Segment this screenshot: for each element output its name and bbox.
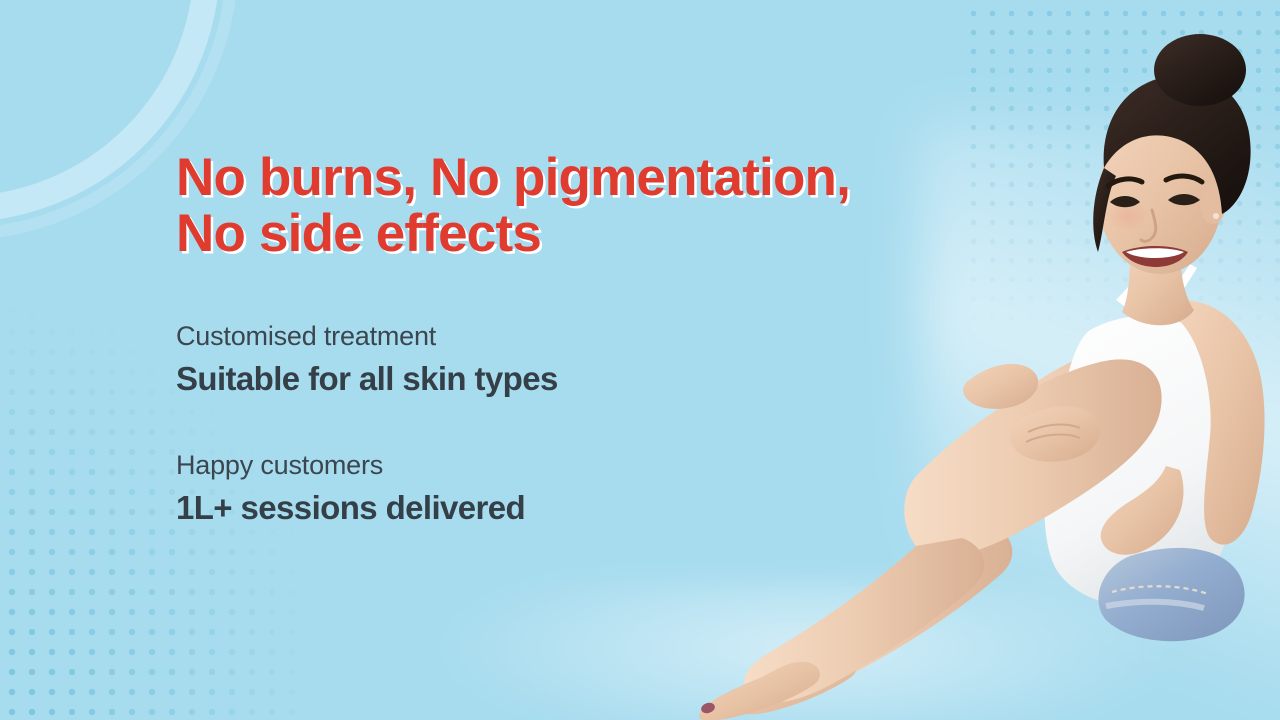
- denim-shorts-shape: [1098, 548, 1244, 641]
- stat-block-2: Happy customers 1L+ sessions delivered: [176, 449, 966, 530]
- headline: No burns, No pigmentation, No side effec…: [176, 150, 966, 262]
- promo-banner: No burns, No pigmentation, No side effec…: [0, 0, 1280, 720]
- stat-label-1: Customised treatment: [176, 320, 966, 354]
- copy-block: No burns, No pigmentation, No side effec…: [176, 150, 966, 530]
- stat-value-2: 1L+ sessions delivered: [176, 487, 966, 530]
- stat-block-1: Customised treatment Suitable for all sk…: [176, 320, 966, 401]
- earring-icon: [1213, 213, 1219, 219]
- stat-label-2: Happy customers: [176, 449, 966, 483]
- hair-bun-shape: [1154, 34, 1246, 106]
- stat-value-1: Suitable for all skin types: [176, 358, 966, 401]
